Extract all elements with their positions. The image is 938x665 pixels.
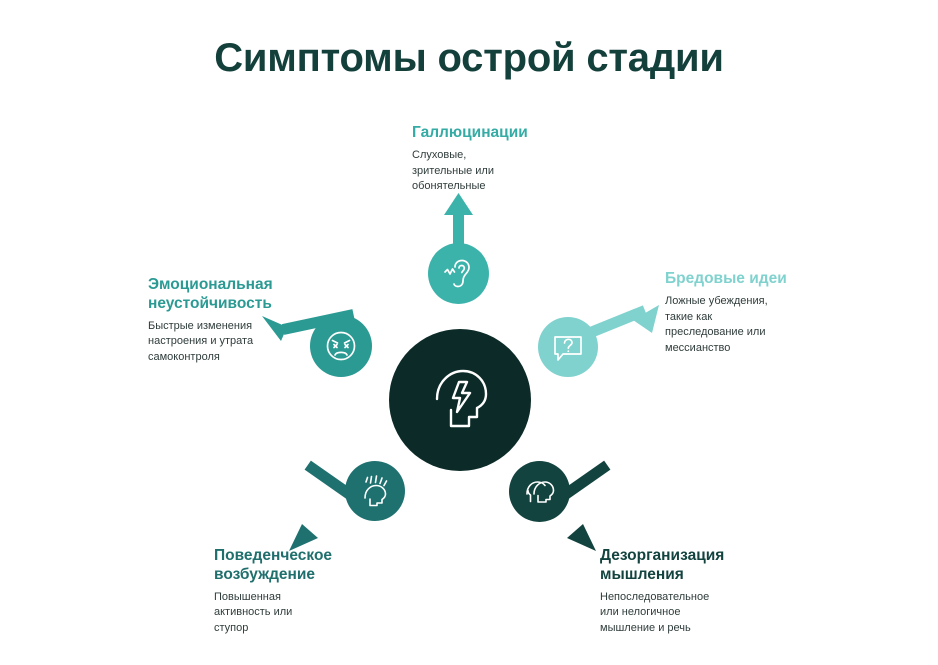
node-emotional[interactable] xyxy=(310,315,372,377)
head-lightning-icon xyxy=(429,365,491,435)
block-title-delusions: Бредовые идеи xyxy=(665,270,840,289)
infographic-canvas: Симптомы острой стадии xyxy=(0,0,938,665)
block-body-hallucinations: Слуховые, зрительные или обонятельные xyxy=(412,148,572,195)
node-disorganized[interactable] xyxy=(509,461,570,522)
sad-face-icon xyxy=(323,328,359,364)
block-title-emotional: Эмоциональная неустойчивость xyxy=(148,276,318,314)
block-body-disorganized: Непоследовательное или нелогичное мышлен… xyxy=(600,590,785,637)
center-node xyxy=(389,329,531,471)
block-title-agitation: Поведенческое возбуждение xyxy=(214,547,394,585)
node-agitation[interactable] xyxy=(345,461,405,521)
node-delusions[interactable] xyxy=(538,317,598,377)
block-hallucinations: Галлюцинации Слуховые, зрительные или об… xyxy=(412,124,572,195)
speech-bubble-question-icon xyxy=(550,329,586,365)
block-title-hallucinations: Галлюцинации xyxy=(412,124,572,143)
node-hallucinations[interactable] xyxy=(428,243,489,304)
block-body-delusions: Ложные убеждения, такие как преследовани… xyxy=(665,294,840,356)
block-emotional: Эмоциональная неустойчивость Быстрые изм… xyxy=(148,276,318,366)
block-title-disorganized: Дезорганизация мышления xyxy=(600,547,785,585)
block-body-agitation: Повышенная активность или ступор xyxy=(214,590,394,637)
two-heads-icon xyxy=(522,474,558,510)
block-disorganized: Дезорганизация мышления Непоследовательн… xyxy=(600,547,785,637)
block-body-emotional: Быстрые изменения настроения и утрата са… xyxy=(148,319,318,366)
block-delusions: Бредовые идеи Ложные убеждения, такие ка… xyxy=(665,270,840,356)
head-energy-icon xyxy=(357,473,393,509)
block-agitation: Поведенческое возбуждение Повышенная акт… xyxy=(214,547,394,637)
ear-sound-icon xyxy=(441,256,477,292)
